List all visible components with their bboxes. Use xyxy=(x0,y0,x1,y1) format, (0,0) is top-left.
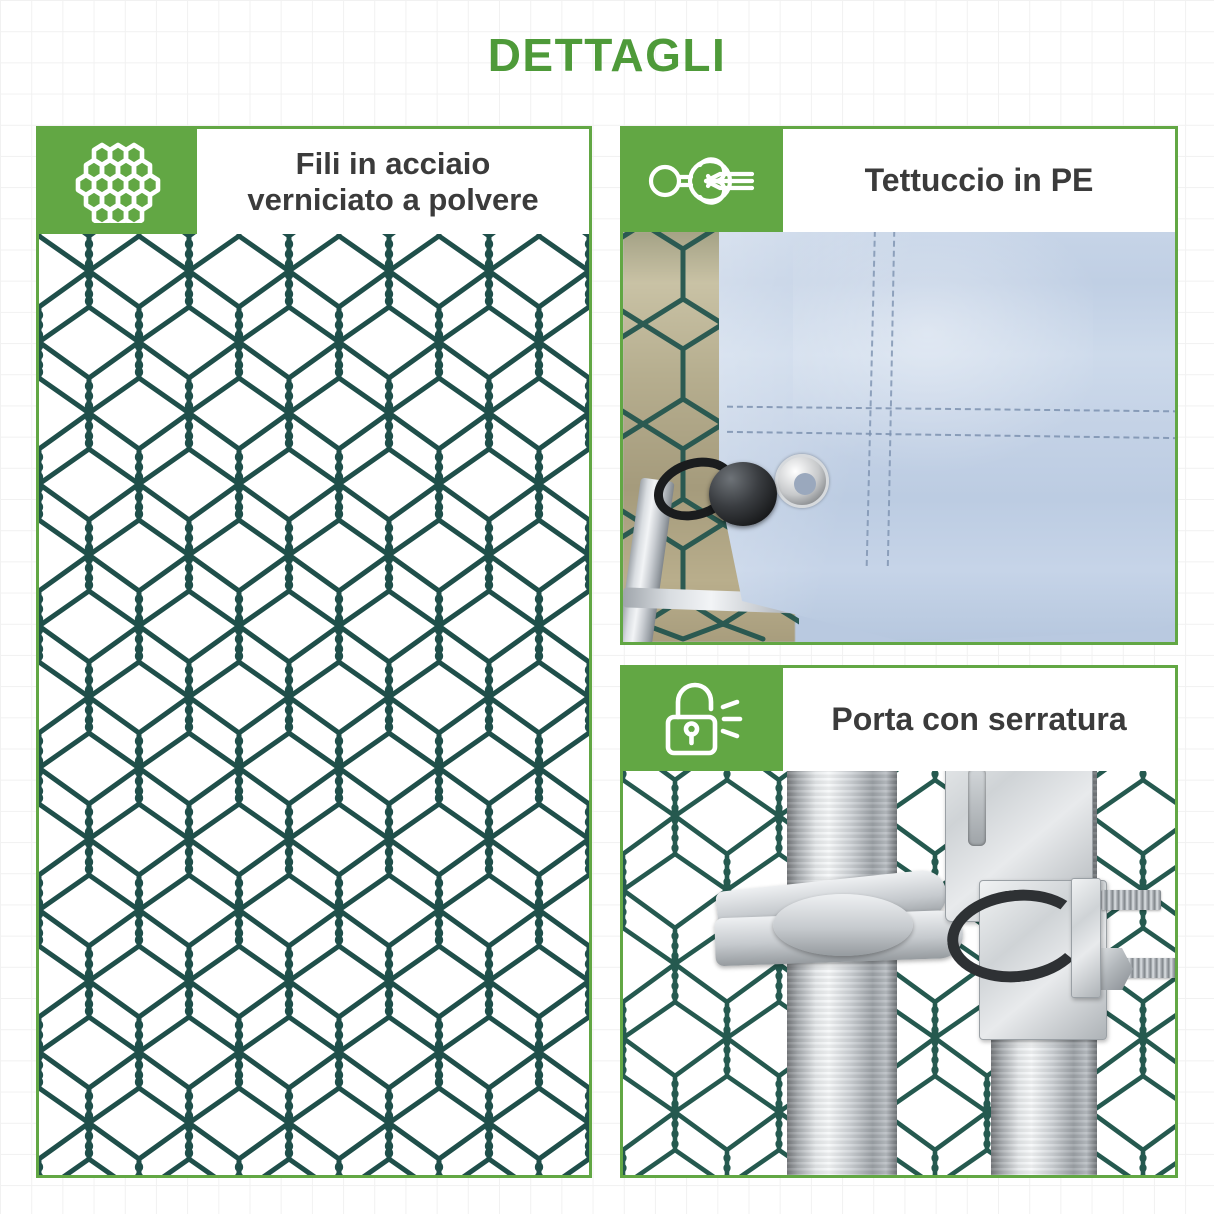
lock-hasp-staple xyxy=(968,768,986,846)
fabric-metal-grommet xyxy=(775,454,829,508)
toggle-ball-fastener xyxy=(709,462,777,526)
panel-wire-header: Fili in acciaio verniciato a polvere xyxy=(39,129,589,234)
panel-roof-label-text: Tettuccio in PE xyxy=(865,162,1094,198)
panel-pe-roof: Tettuccio in PE xyxy=(620,126,1178,645)
panel-roof-header: Tettuccio in PE xyxy=(623,129,1175,232)
page-title: DETTAGLI xyxy=(0,28,1214,82)
panel-roof-label: Tettuccio in PE xyxy=(783,129,1175,232)
panel-wire-label-line1: Fili in acciaio xyxy=(247,146,538,181)
open-padlock-icon xyxy=(623,668,783,771)
panel-door-label: Porta con serratura xyxy=(783,668,1175,771)
rope-knot-icon xyxy=(623,129,783,232)
latch-collar-ring xyxy=(773,894,913,956)
panel-door-label-text: Porta con serratura xyxy=(831,701,1126,737)
honeycomb-mesh-icon xyxy=(39,129,197,234)
panel-wire-label-line2: verniciato a polvere xyxy=(247,182,538,217)
panel-door-header: Porta con serratura xyxy=(623,668,1175,771)
bolt-upper xyxy=(1101,890,1161,910)
panel-lockable-door: Porta con serratura xyxy=(620,665,1178,1178)
detail-features-page: DETTAGLI xyxy=(0,0,1214,1214)
panel-wire-label: Fili in acciaio verniciato a polvere xyxy=(197,129,589,234)
panel-wire-mesh: Fili in acciaio verniciato a polvere xyxy=(36,126,592,1178)
clamp-washer-plate xyxy=(1071,878,1101,998)
hexagonal-wire-mesh-illustration xyxy=(39,129,589,1175)
